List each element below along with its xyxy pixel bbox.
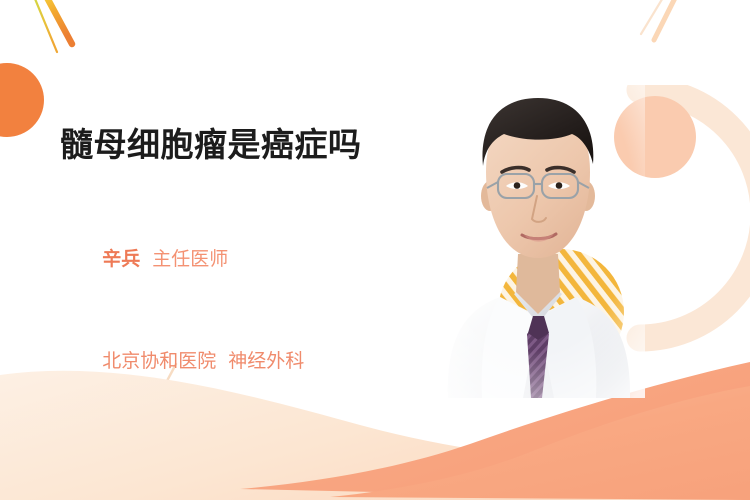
doctor-hospital: 北京协和医院 <box>102 351 216 372</box>
text-block: 髓母细胞瘤是癌症吗 辛兵主任医师 北京协和医院神经外科 <box>60 124 410 413</box>
top-right-diagonal-stripes <box>641 0 676 40</box>
credential-line-secondary: 北京协和医院神经外科 <box>60 311 410 413</box>
top-left-diagonal-stripes <box>33 0 72 52</box>
doctor-role: 主任医师 <box>152 249 228 270</box>
doctor-credentials: 辛兵主任医师 北京协和医院神经外科 <box>60 209 410 413</box>
page-title: 髓母细胞瘤是癌症吗 <box>60 124 410 165</box>
orange-circle-decor <box>0 63 44 137</box>
video-title-card: 髓母细胞瘤是癌症吗 辛兵主任医师 北京协和医院神经外科 <box>0 0 750 500</box>
doctor-name: 辛兵 <box>102 249 140 270</box>
doctor-portrait <box>430 78 645 398</box>
credential-line-primary: 辛兵主任医师 <box>60 209 410 311</box>
portrait-vignette <box>430 78 645 398</box>
doctor-department: 神经外科 <box>228 351 304 372</box>
